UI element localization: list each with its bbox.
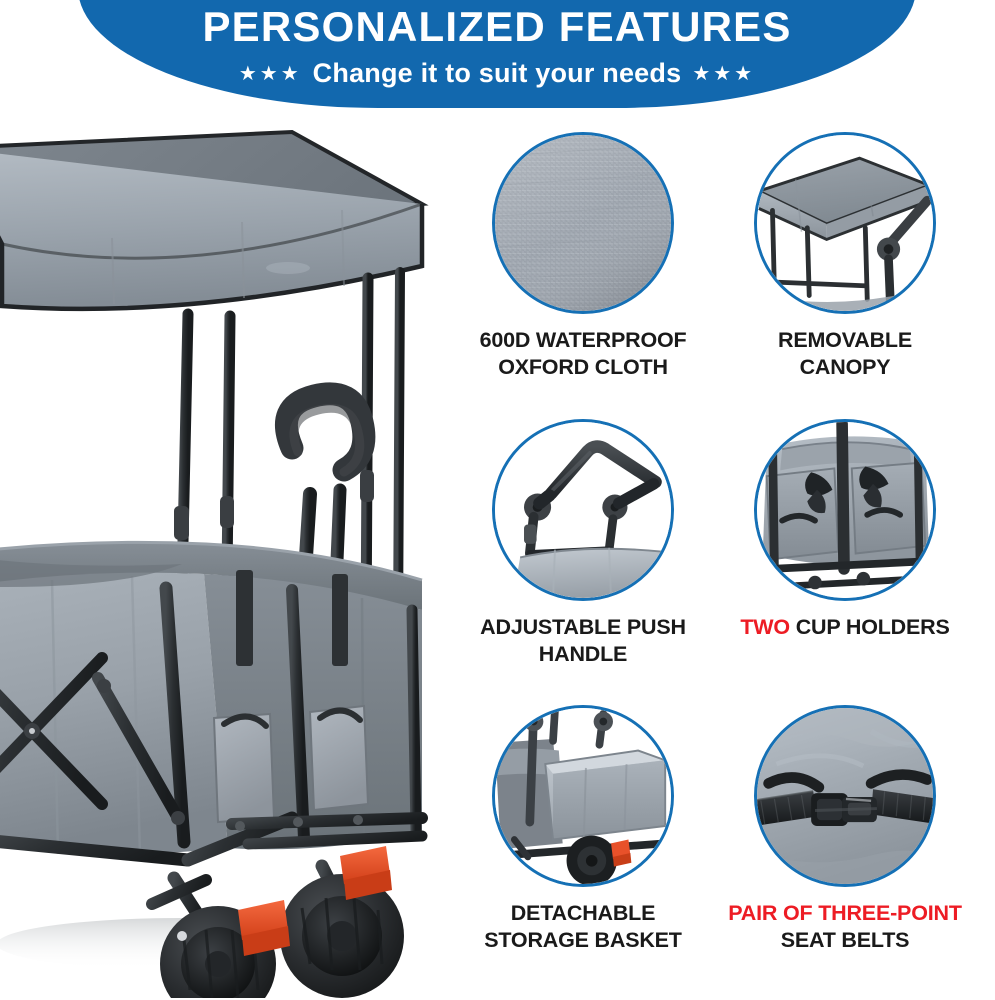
feature-label-line1: REMOVABLE [778, 328, 912, 352]
banner-title: PERSONALIZED FEATURES [78, 4, 916, 50]
fabric-swatch-icon [492, 132, 674, 314]
stars-left-icon: ★★★ [239, 64, 302, 84]
cup-holder-icon [754, 419, 936, 601]
feature-label-line2: STORAGE BASKET [438, 927, 728, 954]
header-banner: PERSONALIZED FEATURES ★★★ Change it to s… [78, 0, 916, 108]
feature-label-highlight: PAIR OF THREE-POINT [728, 901, 962, 925]
feature-label: ADJUSTABLE PUSH HANDLE [438, 614, 728, 668]
feature-label-highlight: TWO [740, 615, 790, 639]
seat-belt-buckle-icon [754, 705, 936, 887]
infographic-page: PERSONALIZED FEATURES ★★★ Change it to s… [0, 0, 995, 1000]
push-handle-icon [492, 419, 674, 601]
feature-label: REMOVABLE CANOPY [700, 327, 990, 381]
feature-label-line2: OXFORD CLOTH [438, 354, 728, 381]
hero-product-image [0, 118, 444, 998]
storage-basket-icon [492, 705, 674, 887]
feature-label-line2: HANDLE [438, 641, 728, 668]
feature-label: PAIR OF THREE-POINT SEAT BELTS [700, 900, 990, 954]
feature-label-line1: 600D WATERPROOF [480, 328, 687, 352]
canopy-icon [754, 132, 936, 314]
feature-item-two-cup-holders[interactable]: TWO CUP HOLDERS [708, 419, 982, 641]
feature-item-three-point-seat-belts[interactable]: PAIR OF THREE-POINT SEAT BELTS [708, 705, 982, 954]
feature-label: TWO CUP HOLDERS [700, 614, 990, 641]
feature-label-line1: CUP HOLDERS [790, 615, 950, 639]
feature-item-adjustable-push-handle[interactable]: ADJUSTABLE PUSH HANDLE [446, 419, 720, 668]
feature-label-line1: ADJUSTABLE PUSH [480, 615, 686, 639]
banner-subtitle-row: ★★★ Change it to suit your needs ★★★ [78, 58, 916, 89]
stars-right-icon: ★★★ [692, 64, 755, 84]
feature-item-waterproof-oxford-cloth[interactable]: 600D WATERPROOF OXFORD CLOTH [446, 132, 720, 381]
feature-label: 600D WATERPROOF OXFORD CLOTH [438, 327, 728, 381]
feature-label-line1: DETACHABLE [511, 901, 656, 925]
banner-subtitle: Change it to suit your needs [313, 58, 682, 89]
feature-label-line2: SEAT BELTS [700, 927, 990, 954]
feature-item-detachable-storage-basket[interactable]: DETACHABLE STORAGE BASKET [446, 705, 720, 954]
feature-item-removable-canopy[interactable]: REMOVABLE CANOPY [708, 132, 982, 381]
feature-label-line2: CANOPY [700, 354, 990, 381]
feature-grid: 600D WATERPROOF OXFORD CLOTH [446, 132, 995, 992]
feature-label: DETACHABLE STORAGE BASKET [438, 900, 728, 954]
